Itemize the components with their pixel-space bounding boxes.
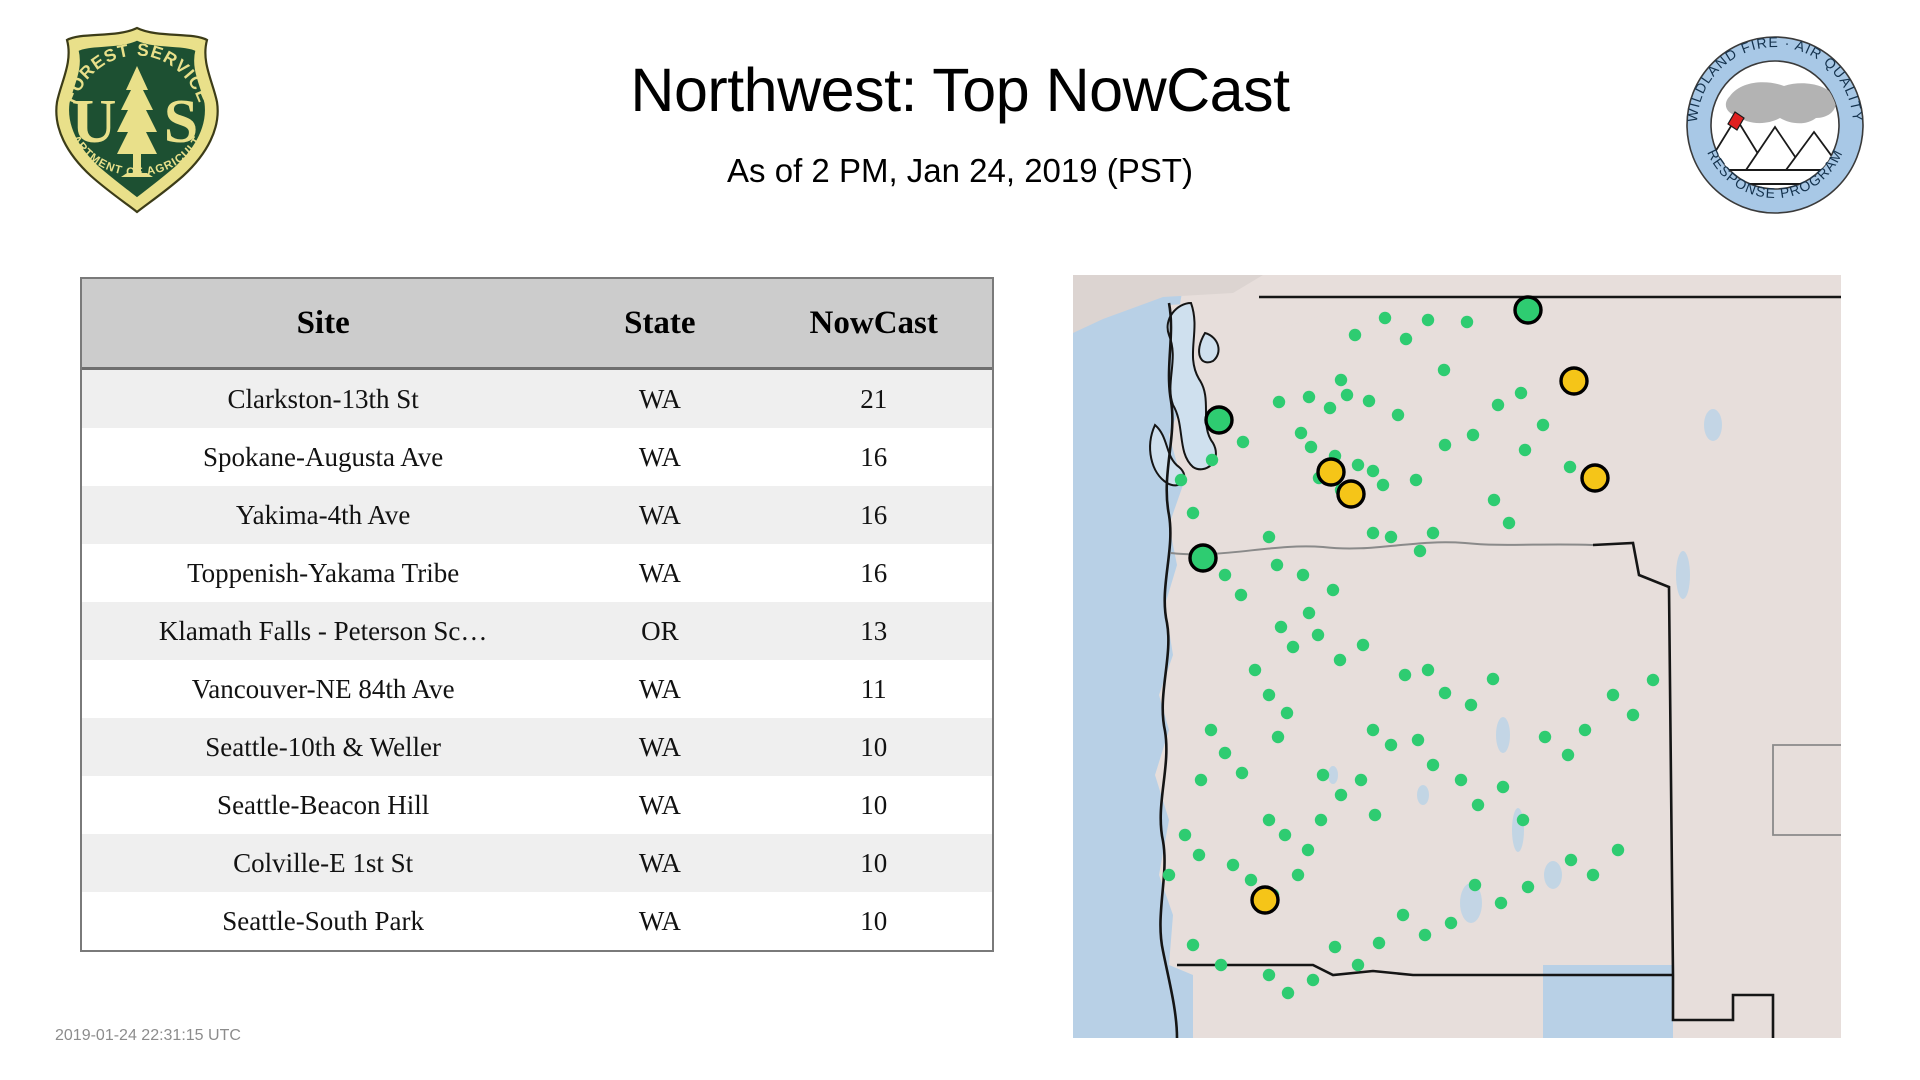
cell-site: Clarkston-13th St <box>82 369 564 429</box>
cell-nowcast: 16 <box>755 486 992 544</box>
table-body: Clarkston-13th StWA21Spokane-Augusta Ave… <box>82 369 992 951</box>
monitor-dot[interactable] <box>1245 874 1257 886</box>
cell-state: WA <box>564 544 755 602</box>
cell-nowcast: 21 <box>755 369 992 429</box>
monitor-dot[interactable] <box>1647 674 1659 686</box>
monitor-dot[interactable] <box>1341 389 1353 401</box>
monitor-dot[interactable] <box>1439 439 1451 451</box>
monitor-dot[interactable] <box>1564 461 1576 473</box>
monitor-dot[interactable] <box>1193 849 1205 861</box>
cell-state: WA <box>564 428 755 486</box>
monitor-dot[interactable] <box>1627 709 1639 721</box>
monitor-dot[interactable] <box>1317 769 1329 781</box>
monitor-dot[interactable] <box>1263 689 1275 701</box>
monitor-dot[interactable] <box>1467 429 1479 441</box>
monitor-dot[interactable] <box>1461 316 1473 328</box>
monitor-dot[interactable] <box>1237 436 1249 448</box>
nowcast-table-container: Site State NowCast Clarkston-13th StWA21… <box>80 277 994 952</box>
monitor-dot[interactable] <box>1305 441 1317 453</box>
monitor-dot[interactable] <box>1271 559 1283 571</box>
monitor-dot[interactable] <box>1297 569 1309 581</box>
monitor-dot[interactable] <box>1438 364 1450 376</box>
cell-site: Spokane-Augusta Ave <box>82 428 564 486</box>
monitor-dot[interactable] <box>1465 699 1477 711</box>
monitor-dot-highlighted[interactable] <box>1561 368 1587 394</box>
monitor-dot[interactable] <box>1503 517 1515 529</box>
cell-nowcast: 10 <box>755 892 992 950</box>
cell-state: OR <box>564 602 755 660</box>
monitor-dot[interactable] <box>1175 474 1187 486</box>
cell-state: WA <box>564 486 755 544</box>
monitor-dot[interactable] <box>1373 937 1385 949</box>
monitor-dot[interactable] <box>1187 507 1199 519</box>
monitor-dot[interactable] <box>1377 479 1389 491</box>
monitor-dot[interactable] <box>1397 909 1409 921</box>
cell-site: Klamath Falls - Peterson Sc… <box>82 602 564 660</box>
monitor-dot[interactable] <box>1273 396 1285 408</box>
table-row[interactable]: Toppenish-Yakama TribeWA16 <box>82 544 992 602</box>
column-header-site[interactable]: Site <box>82 279 564 369</box>
monitor-dot[interactable] <box>1272 731 1284 743</box>
monitor-dot[interactable] <box>1455 774 1467 786</box>
monitor-dot[interactable] <box>1363 395 1375 407</box>
cell-site: Toppenish-Yakama Tribe <box>82 544 564 602</box>
monitor-dot[interactable] <box>1492 399 1504 411</box>
monitor-dot[interactable] <box>1263 969 1275 981</box>
table-row[interactable]: Spokane-Augusta AveWA16 <box>82 428 992 486</box>
cell-site: Colville-E 1st St <box>82 834 564 892</box>
table-header: Site State NowCast <box>82 279 992 369</box>
monitor-dot[interactable] <box>1400 333 1412 345</box>
monitor-dot[interactable] <box>1187 939 1199 951</box>
monitor-dot[interactable] <box>1179 829 1191 841</box>
monitor-dot[interactable] <box>1537 419 1549 431</box>
monitor-dot[interactable] <box>1445 917 1457 929</box>
cell-nowcast: 16 <box>755 544 992 602</box>
monitor-dot[interactable] <box>1422 664 1434 676</box>
monitor-dot[interactable] <box>1427 759 1439 771</box>
table-row[interactable]: Klamath Falls - Peterson Sc…OR13 <box>82 602 992 660</box>
cell-site: Seattle-10th & Weller <box>82 718 564 776</box>
monitor-dot[interactable] <box>1357 639 1369 651</box>
monitor-dot[interactable] <box>1612 844 1624 856</box>
monitor-dot[interactable] <box>1410 474 1422 486</box>
monitor-dot[interactable] <box>1367 527 1379 539</box>
cell-state: WA <box>564 718 755 776</box>
page-title: Northwest: Top NowCast <box>0 58 1920 122</box>
monitor-dot[interactable] <box>1352 959 1364 971</box>
monitor-dot[interactable] <box>1379 312 1391 324</box>
monitor-dot[interactable] <box>1279 829 1291 841</box>
cell-nowcast: 10 <box>755 834 992 892</box>
monitor-dot[interactable] <box>1607 689 1619 701</box>
monitor-dot[interactable] <box>1282 987 1294 999</box>
monitor-dot-highlighted[interactable] <box>1318 459 1344 485</box>
monitor-dot[interactable] <box>1495 897 1507 909</box>
monitor-dot[interactable] <box>1565 854 1577 866</box>
page-subtitle: As of 2 PM, Jan 24, 2019 (PST) <box>0 152 1920 190</box>
monitor-dot[interactable] <box>1349 329 1361 341</box>
monitor-dot[interactable] <box>1327 584 1339 596</box>
table-header-row: Site State NowCast <box>82 279 992 369</box>
monitor-dot[interactable] <box>1352 459 1364 471</box>
column-header-nowcast[interactable]: NowCast <box>755 279 992 369</box>
monitor-dot-highlighted[interactable] <box>1338 481 1364 507</box>
monitor-dot[interactable] <box>1367 465 1379 477</box>
monitor-dot[interactable] <box>1419 929 1431 941</box>
monitor-dot[interactable] <box>1302 844 1314 856</box>
monitor-dot[interactable] <box>1427 527 1439 539</box>
monitor-dot[interactable] <box>1412 734 1424 746</box>
monitor-dot[interactable] <box>1519 444 1531 456</box>
monitor-dot[interactable] <box>1219 569 1231 581</box>
monitor-dot[interactable] <box>1303 391 1315 403</box>
monitor-dot[interactable] <box>1275 621 1287 633</box>
monitor-dot[interactable] <box>1487 673 1499 685</box>
cell-state: WA <box>564 660 755 718</box>
cell-nowcast: 10 <box>755 776 992 834</box>
monitor-dot[interactable] <box>1414 545 1426 557</box>
slide-root: FOREST SERVICE U S DEPARTMENT OF AGRICUL… <box>0 0 1920 1080</box>
northwest-monitor-map[interactable] <box>1073 275 1841 1038</box>
monitor-dot[interactable] <box>1292 869 1304 881</box>
table-row[interactable]: Seattle-South ParkWA10 <box>82 892 992 950</box>
monitor-dot[interactable] <box>1163 869 1175 881</box>
monitor-dot[interactable] <box>1263 814 1275 826</box>
monitor-dot[interactable] <box>1324 402 1336 414</box>
monitor-dot[interactable] <box>1469 879 1481 891</box>
monitor-dot[interactable] <box>1439 687 1451 699</box>
monitor-dot[interactable] <box>1355 774 1367 786</box>
cell-state: WA <box>564 892 755 950</box>
table-row[interactable]: Colville-E 1st StWA10 <box>82 834 992 892</box>
monitor-dot[interactable] <box>1392 409 1404 421</box>
cell-site: Vancouver-NE 84th Ave <box>82 660 564 718</box>
nowcast-table: Site State NowCast Clarkston-13th StWA21… <box>82 279 992 950</box>
monitor-dot[interactable] <box>1497 781 1509 793</box>
table-row[interactable]: Yakima-4th AveWA16 <box>82 486 992 544</box>
monitor-dot[interactable] <box>1215 959 1227 971</box>
cell-site: Seattle-South Park <box>82 892 564 950</box>
monitor-dot[interactable] <box>1472 799 1484 811</box>
monitor-dot[interactable] <box>1385 739 1397 751</box>
monitor-dot[interactable] <box>1399 669 1411 681</box>
monitor-dot[interactable] <box>1235 589 1247 601</box>
monitor-dot[interactable] <box>1206 454 1218 466</box>
monitor-dot[interactable] <box>1539 731 1551 743</box>
monitor-dot[interactable] <box>1329 941 1341 953</box>
cell-nowcast: 13 <box>755 602 992 660</box>
monitor-dot[interactable] <box>1295 427 1307 439</box>
cell-nowcast: 11 <box>755 660 992 718</box>
cell-state: WA <box>564 369 755 429</box>
monitor-dot[interactable] <box>1307 974 1319 986</box>
table-row[interactable]: Seattle-Beacon HillWA10 <box>82 776 992 834</box>
monitor-dot[interactable] <box>1385 531 1397 543</box>
monitor-dot[interactable] <box>1236 767 1248 779</box>
monitor-dot[interactable] <box>1312 629 1324 641</box>
monitor-dot[interactable] <box>1335 374 1347 386</box>
monitor-dot[interactable] <box>1367 724 1379 736</box>
monitor-dot[interactable] <box>1219 747 1231 759</box>
monitor-dot[interactable] <box>1369 809 1381 821</box>
monitor-dot-highlighted[interactable] <box>1582 465 1608 491</box>
monitor-dot[interactable] <box>1488 494 1500 506</box>
cell-site: Seattle-Beacon Hill <box>82 776 564 834</box>
monitor-dot[interactable] <box>1335 789 1347 801</box>
monitor-dot[interactable] <box>1422 314 1434 326</box>
monitor-dot[interactable] <box>1303 607 1315 619</box>
monitor-dot[interactable] <box>1315 814 1327 826</box>
monitor-dot[interactable] <box>1195 774 1207 786</box>
map-panel[interactable] <box>1073 275 1841 1038</box>
table-row[interactable]: Seattle-10th & WellerWA10 <box>82 718 992 776</box>
table-row[interactable]: Clarkston-13th StWA21 <box>82 369 992 429</box>
cell-nowcast: 16 <box>755 428 992 486</box>
monitor-dot[interactable] <box>1517 814 1529 826</box>
column-header-state[interactable]: State <box>564 279 755 369</box>
monitor-dot[interactable] <box>1249 664 1261 676</box>
monitor-dot[interactable] <box>1227 859 1239 871</box>
cell-site: Yakima-4th Ave <box>82 486 564 544</box>
cell-state: WA <box>564 834 755 892</box>
monitor-dot[interactable] <box>1579 724 1591 736</box>
monitor-dot[interactable] <box>1287 641 1299 653</box>
monitor-dot[interactable] <box>1522 881 1534 893</box>
monitor-dot-highlighted[interactable] <box>1190 545 1216 571</box>
monitor-dot-highlighted[interactable] <box>1515 297 1541 323</box>
monitor-dot-highlighted[interactable] <box>1206 407 1232 433</box>
monitor-dot[interactable] <box>1562 749 1574 761</box>
monitor-dot[interactable] <box>1263 531 1275 543</box>
monitor-dot[interactable] <box>1515 387 1527 399</box>
generated-timestamp: 2019-01-24 22:31:15 UTC <box>55 1027 241 1045</box>
cell-state: WA <box>564 776 755 834</box>
monitor-dot[interactable] <box>1205 724 1217 736</box>
monitor-dot[interactable] <box>1334 654 1346 666</box>
table-row[interactable]: Vancouver-NE 84th AveWA11 <box>82 660 992 718</box>
monitor-dot[interactable] <box>1587 869 1599 881</box>
monitor-dot-highlighted[interactable] <box>1252 887 1278 913</box>
monitor-dot[interactable] <box>1281 707 1293 719</box>
cell-nowcast: 10 <box>755 718 992 776</box>
